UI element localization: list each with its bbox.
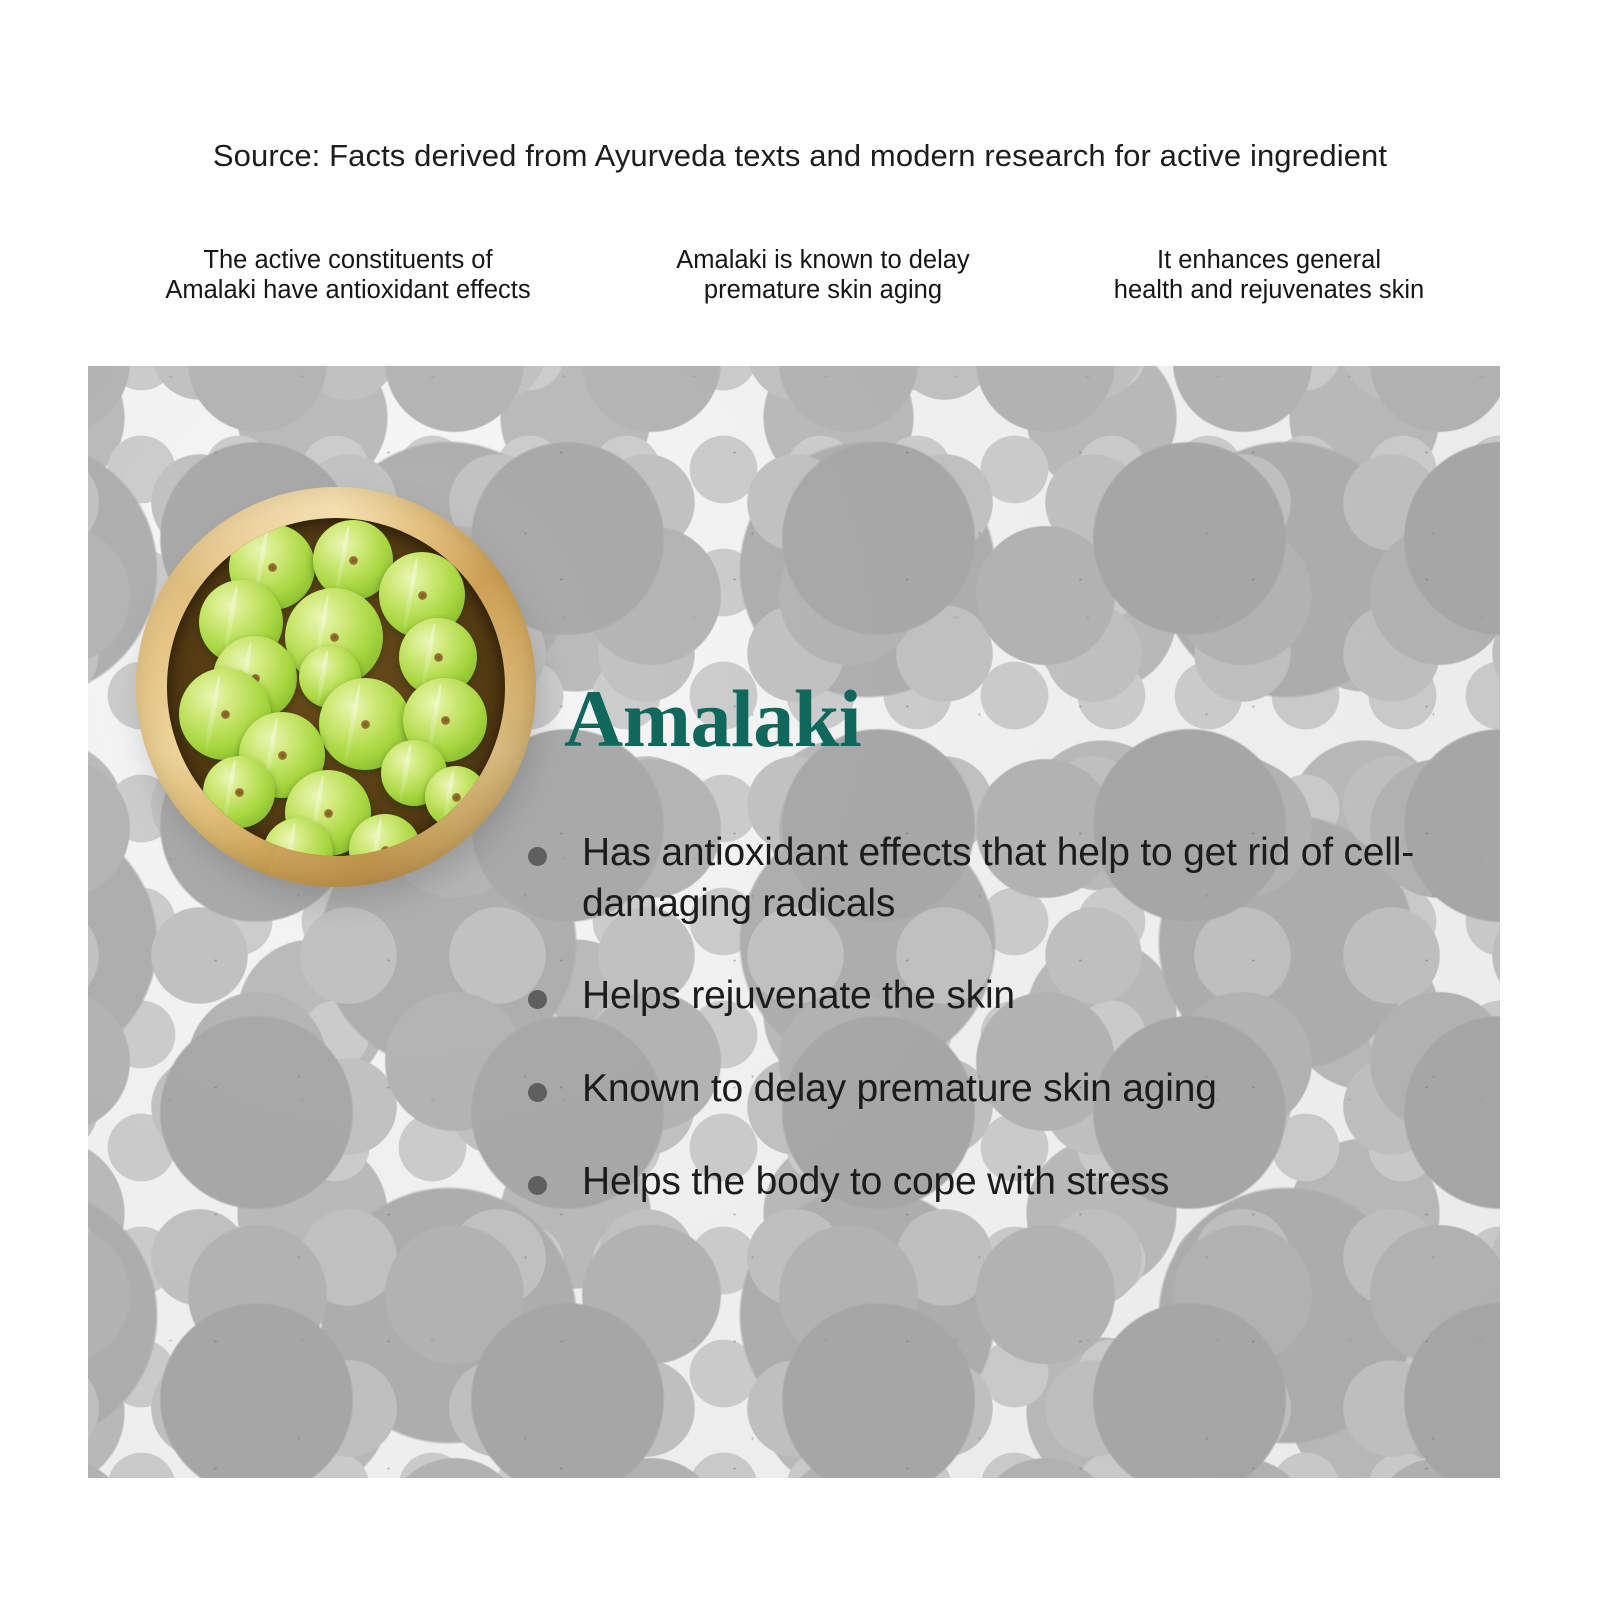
- bullet-icon: [528, 1176, 547, 1195]
- ingredient-title: Amalaki: [564, 678, 861, 760]
- benefit-item: Helps the body to cope with stress: [518, 1157, 1438, 1208]
- fact-column-3: It enhances general health and rejuvenat…: [1038, 246, 1500, 305]
- benefit-text: Known to delay premature skin aging: [582, 1067, 1217, 1110]
- amalaki-berry: [425, 766, 487, 828]
- fact-columns: The active constituents of Amalaki have …: [88, 246, 1500, 305]
- benefit-text: Has antioxidant effects that help to get…: [582, 831, 1414, 925]
- bowl-of-amalaki-image: [136, 487, 536, 887]
- fact-column-3-line1: It enhances general: [1157, 246, 1381, 274]
- fact-column-1-line1: The active constituents of: [203, 246, 492, 274]
- ingredient-photo-panel: Amalaki Has antioxidant effects that hel…: [88, 366, 1500, 1478]
- fact-column-2-line1: Amalaki is known to delay: [676, 246, 969, 274]
- fact-column-2: Amalaki is known to delay premature skin…: [608, 246, 1038, 305]
- benefit-text: Helps rejuvenate the skin: [582, 974, 1015, 1017]
- benefits-list: Has antioxidant effects that help to get…: [518, 828, 1438, 1207]
- benefit-item: Has antioxidant effects that help to get…: [518, 828, 1438, 929]
- benefit-item: Helps rejuvenate the skin: [518, 971, 1438, 1022]
- bowl-interior: [167, 518, 505, 856]
- fact-column-1: The active constituents of Amalaki have …: [88, 246, 608, 305]
- bullet-icon: [528, 847, 547, 866]
- amalaki-berry: [203, 756, 275, 828]
- bullet-icon: [528, 990, 547, 1009]
- bullet-icon: [528, 1083, 547, 1102]
- fact-column-1-line2: Amalaki have antioxidant effects: [88, 276, 608, 306]
- source-attribution: Source: Facts derived from Ayurveda text…: [0, 138, 1600, 174]
- benefit-text: Helps the body to cope with stress: [582, 1160, 1169, 1203]
- fact-column-3-line2: health and rejuvenates skin: [1038, 276, 1500, 306]
- fact-column-2-line2: premature skin aging: [608, 276, 1038, 306]
- benefit-item: Known to delay premature skin aging: [518, 1064, 1438, 1115]
